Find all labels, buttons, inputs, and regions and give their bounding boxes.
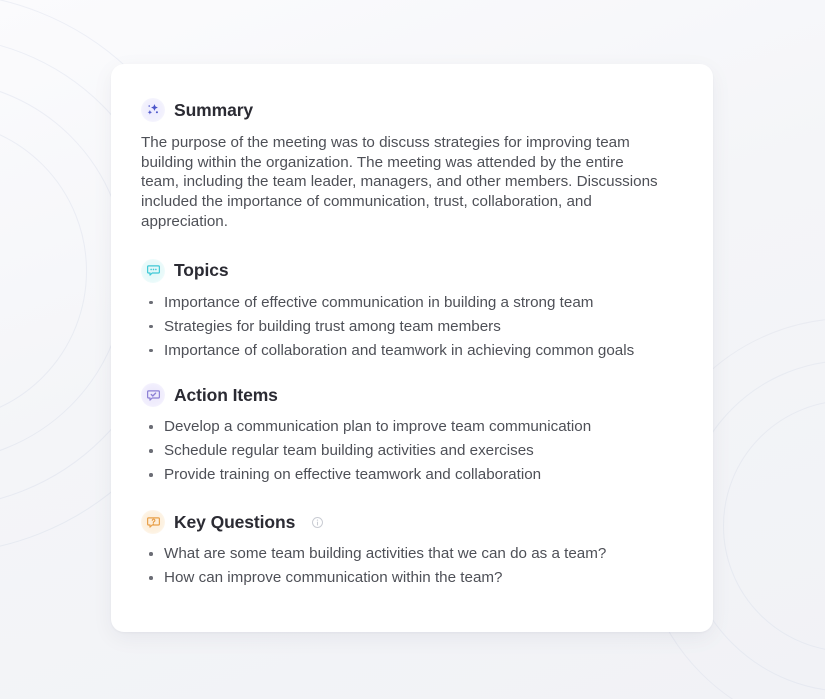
section-title-summary: Summary xyxy=(174,100,253,121)
section-header-action-items: Action Items xyxy=(141,383,683,407)
section-action-items: Action Items Develop a communication pla… xyxy=(141,383,683,485)
sparkle-icon xyxy=(141,98,165,122)
chat-bubble-question-icon xyxy=(141,510,165,534)
topics-list: Importance of effective communication in… xyxy=(141,293,683,361)
section-header-topics: Topics xyxy=(141,259,683,283)
summary-paragraph: The purpose of the meeting was to discus… xyxy=(141,133,663,232)
decor-ring-left-1 xyxy=(0,120,87,422)
list-item: Schedule regular team building activitie… xyxy=(141,441,683,461)
list-item: How can improve communication within the… xyxy=(141,568,683,588)
section-key-questions: Key Questions What are some team buildin… xyxy=(141,510,683,588)
key-questions-list: What are some team building activities t… xyxy=(141,544,683,588)
meeting-summary-card: Summary The purpose of the meeting was t… xyxy=(111,64,713,632)
list-item: Importance of collaboration and teamwork… xyxy=(141,341,683,361)
list-item: Develop a communication plan to improve … xyxy=(141,417,683,437)
chat-bubble-check-icon xyxy=(141,383,165,407)
section-header-key-questions: Key Questions xyxy=(141,510,683,534)
section-header-summary: Summary xyxy=(141,98,683,122)
list-item: What are some team building activities t… xyxy=(141,544,683,564)
list-item: Provide training on effective teamwork a… xyxy=(141,465,683,485)
info-circle-icon[interactable] xyxy=(311,516,324,529)
action-items-list: Develop a communication plan to improve … xyxy=(141,417,683,485)
chat-bubble-dots-icon xyxy=(141,259,165,283)
section-title-key-questions: Key Questions xyxy=(174,512,295,533)
section-title-topics: Topics xyxy=(174,260,229,281)
decor-ring-left-2 xyxy=(0,80,127,462)
section-title-action-items: Action Items xyxy=(174,385,278,406)
section-summary: Summary The purpose of the meeting was t… xyxy=(141,98,683,232)
list-item: Strategies for building trust among team… xyxy=(141,317,683,337)
decor-ring-right-1 xyxy=(723,400,825,652)
section-topics: Topics Importance of effective communica… xyxy=(141,259,683,361)
list-item: Importance of effective communication in… xyxy=(141,293,683,313)
